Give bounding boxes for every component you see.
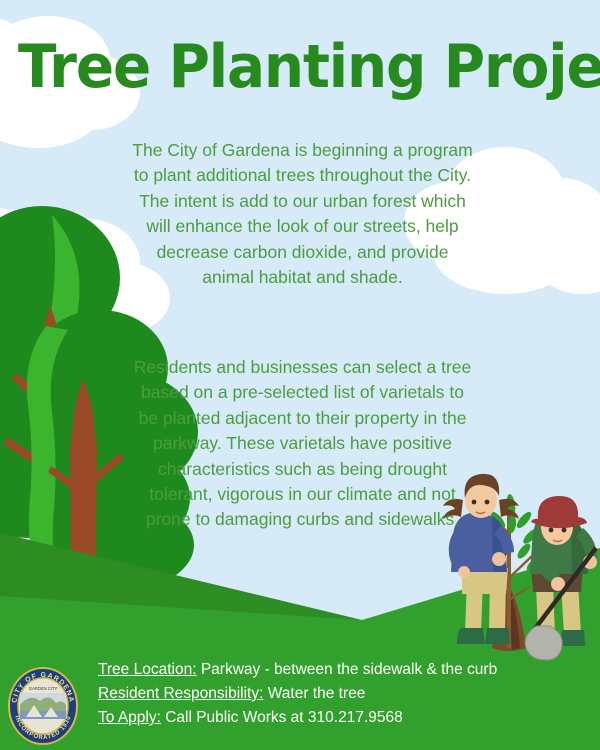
girl-boot-left: [457, 628, 485, 644]
intro-paragraph: The City of Gardena is beginning a progr…: [130, 138, 475, 290]
girl-hand-left: [458, 566, 470, 578]
resident-responsibility-label: Resident Responsibility:: [98, 685, 263, 702]
detail-row-to-apply: To Apply: Call Public Works at 310.217.9…: [98, 706, 497, 730]
tree-location-label: Tree Location:: [98, 661, 197, 678]
girl-hand-right: [492, 552, 506, 566]
tree-planting-poster: Tree Planting Project The City of Garden…: [0, 0, 600, 750]
selection-paragraph-text: Residents and businesses can select a tr…: [130, 355, 475, 533]
resident-responsibility-value: Water the tree: [263, 685, 365, 702]
to-apply-label: To Apply:: [98, 709, 161, 726]
to-apply-value: Call Public Works at 310.217.9568: [161, 709, 403, 726]
boy-boot-right: [560, 630, 585, 646]
seal-inner-label: GARDEN CITY: [29, 686, 58, 691]
boy-eye-left: [549, 528, 554, 533]
detail-row-resident-responsibility: Resident Responsibility: Water the tree: [98, 682, 497, 706]
seal-emblem-scene: [20, 693, 66, 719]
boy-eye-right: [562, 528, 567, 533]
girl-eye-right: [485, 500, 490, 505]
tree-location-value: Parkway - between the sidewalk & the cur…: [197, 661, 498, 678]
details-block: Tree Location: Parkway - between the sid…: [98, 658, 497, 730]
city-of-gardena-seal: GARDEN CITY CITY OF GARDENA INCORPORATED…: [4, 661, 82, 747]
shovel-blade: [525, 626, 562, 660]
intro-paragraph-text: The City of Gardena is beginning a progr…: [130, 138, 475, 290]
poster-title: Tree Planting Project: [18, 36, 582, 98]
detail-row-tree-location: Tree Location: Parkway - between the sid…: [98, 658, 497, 682]
girl-boot-right: [485, 628, 510, 644]
selection-paragraph: Residents and businesses can select a tr…: [130, 355, 475, 533]
